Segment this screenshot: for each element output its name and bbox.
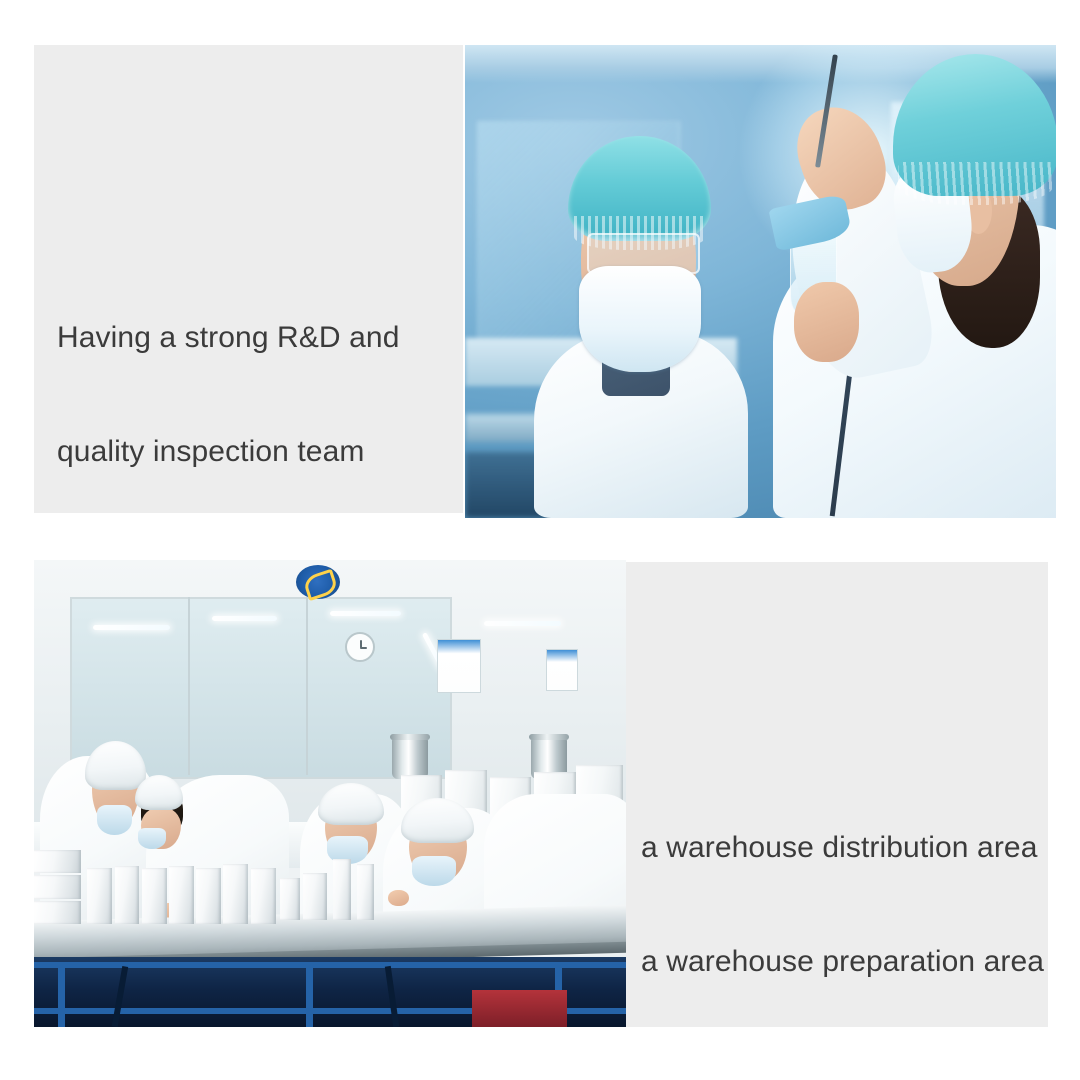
top-caption-line-2: quality inspection team [57, 433, 399, 471]
table-frame-leg [58, 962, 65, 1027]
wall-notice-sign [437, 639, 481, 693]
red-bin [472, 990, 567, 1027]
face-mask-icon [412, 856, 456, 886]
window-mullion [306, 597, 308, 774]
top-caption-line-1: Having a strong R&D and [57, 319, 399, 357]
ceiling-light [93, 625, 170, 630]
window-mullion [188, 597, 190, 774]
bottom-caption-line-2: a warehouse preparation area [641, 943, 1044, 981]
lab-worker-side [725, 45, 1056, 518]
hairnet-icon [135, 775, 183, 810]
bottom-caption: a warehouse distribution area a warehous… [641, 753, 1044, 1057]
ceiling-light [212, 616, 277, 621]
wall-clock-icon [345, 632, 375, 662]
carton-small [280, 878, 300, 920]
company-logo-icon [296, 565, 340, 599]
face-mask-icon [97, 805, 133, 835]
carton-small [303, 873, 327, 920]
carton-upright [223, 864, 248, 925]
carton-stack-left [34, 875, 81, 898]
top-caption: Having a strong R&D and quality inspecti… [57, 243, 399, 547]
bottom-caption-line-1: a warehouse distribution area [641, 829, 1044, 867]
blue-hairnet-icon [893, 54, 1056, 196]
carton-upright [142, 868, 167, 924]
table-frame-leg [306, 962, 313, 1027]
ceiling-light [330, 611, 401, 616]
bottle-upright [357, 864, 375, 920]
lab-quality-inspection-photo [465, 45, 1056, 518]
carton-upright [169, 866, 194, 924]
page-root: Having a strong R&D and quality inspecti… [0, 0, 1080, 1080]
steel-canister [392, 737, 428, 779]
wall-notice-sign [546, 649, 578, 691]
carton-stack-left [34, 850, 81, 873]
carton-stack-left [34, 901, 81, 924]
carton-upright [115, 866, 140, 924]
bottle-upright [333, 859, 351, 920]
lab-background [465, 45, 1056, 518]
lower-hand [794, 282, 859, 362]
face-mask-icon [579, 266, 701, 372]
warehouse-background [34, 560, 626, 1027]
warehouse-packing-photo [34, 560, 626, 1027]
carton-upright [87, 868, 112, 924]
carton-upright [196, 868, 221, 924]
blue-hairnet-icon [568, 136, 711, 242]
carton-upright [251, 868, 276, 924]
ceiling-light [484, 621, 561, 626]
